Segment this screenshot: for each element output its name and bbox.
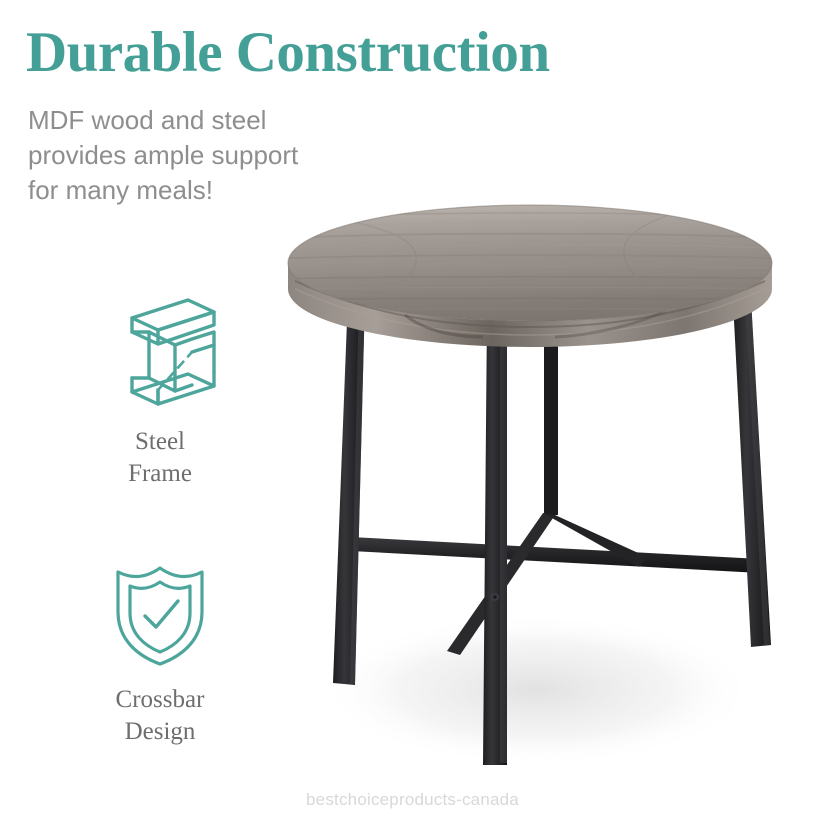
product-image-round-dining-table: [255, 185, 825, 825]
leg-bolt-inner: [493, 595, 496, 598]
crossbar-rear: [351, 537, 760, 573]
page-title: Durable Construction: [26, 22, 646, 84]
shield-check-icon: [60, 560, 260, 670]
feature-label-line-1: Steel: [60, 426, 260, 458]
table-leg-front-center-highlight: [500, 315, 507, 763]
subtitle-line-1: MDF wood and steel: [28, 103, 368, 138]
feature-steel-frame: Steel Frame: [60, 292, 260, 489]
feature-crossbar-design: Crossbar Design: [60, 560, 260, 747]
i-beam-icon: [60, 292, 260, 412]
floor-shadow: [319, 614, 755, 766]
marketing-feature-panel: Durable Construction MDF wood and steel …: [0, 0, 825, 825]
feature-steel-frame-label: Steel Frame: [60, 426, 260, 489]
feature-label-line-2: Frame: [60, 458, 260, 490]
feature-label-line-1: Crossbar: [60, 684, 260, 716]
feature-label-line-2: Design: [60, 716, 260, 748]
feature-crossbar-design-label: Crossbar Design: [60, 684, 260, 747]
tabletop-sheen: [288, 205, 772, 321]
subtitle-line-2: provides ample support: [28, 138, 368, 173]
